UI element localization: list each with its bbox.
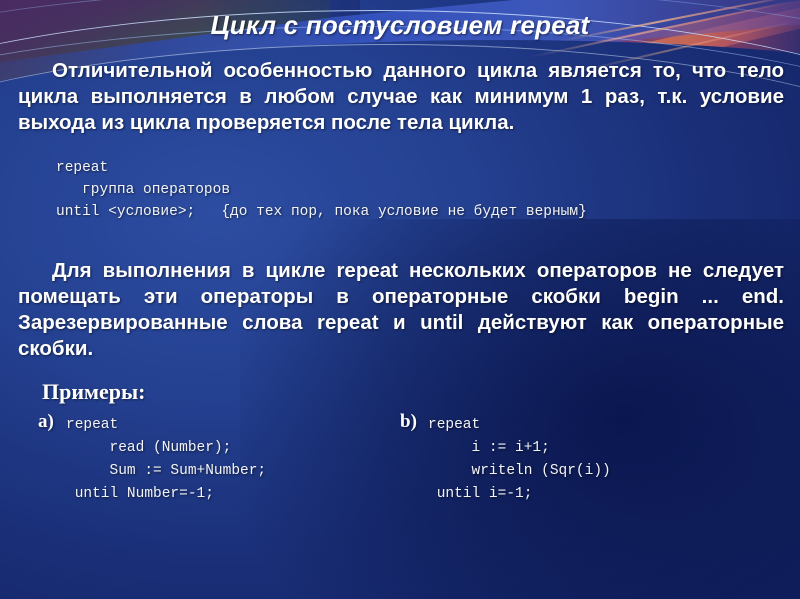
example-a-marker: a) (38, 411, 54, 433)
example-b-marker: b) (400, 411, 417, 433)
examples-heading: Примеры: (42, 379, 146, 405)
slide-title: Цикл с постусловием repeat (0, 10, 800, 41)
presentation-slide: Цикл с постусловием repeat Отличительной… (0, 0, 800, 599)
example-a-code: repeat read (Number); Sum := Sum+Number;… (66, 414, 266, 506)
repeat-syntax-code-block: repeat группа операторов until <условие>… (56, 157, 587, 223)
example-b-code: repeat i := i+1; writeln (Sqr(i)) until … (428, 414, 611, 506)
intro-paragraph: Отличительной особенностью данного цикла… (18, 58, 784, 136)
explanation-paragraph: Для выполнения в цикле repeat нескольких… (18, 258, 784, 362)
slide-content: Цикл с постусловием repeat Отличительной… (0, 0, 800, 599)
